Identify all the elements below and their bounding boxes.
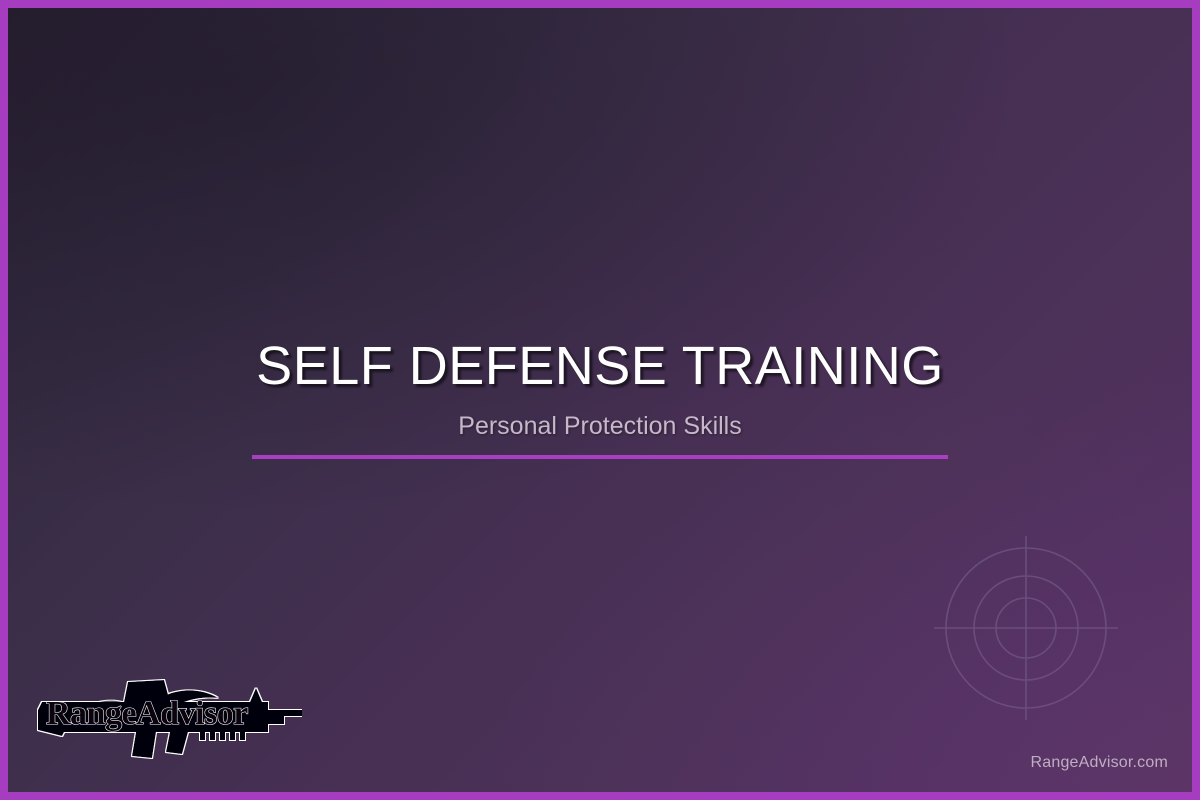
page-title: SELF DEFENSE TRAINING [8, 338, 1192, 395]
brand-logo-text: RangeAdvisor [46, 695, 248, 732]
footer-url: RangeAdvisor.com [1031, 754, 1169, 772]
brand-logo[interactable]: RangeAdvisor [32, 672, 302, 760]
title-block: SELF DEFENSE TRAINING Personal Protectio… [8, 338, 1192, 440]
page-subtitle: Personal Protection Skills [8, 413, 1192, 441]
presentation-slide: SELF DEFENSE TRAINING Personal Protectio… [0, 0, 1200, 800]
crosshair-target-icon [926, 528, 1126, 728]
title-divider [252, 455, 948, 459]
slide-canvas: SELF DEFENSE TRAINING Personal Protectio… [8, 8, 1192, 792]
